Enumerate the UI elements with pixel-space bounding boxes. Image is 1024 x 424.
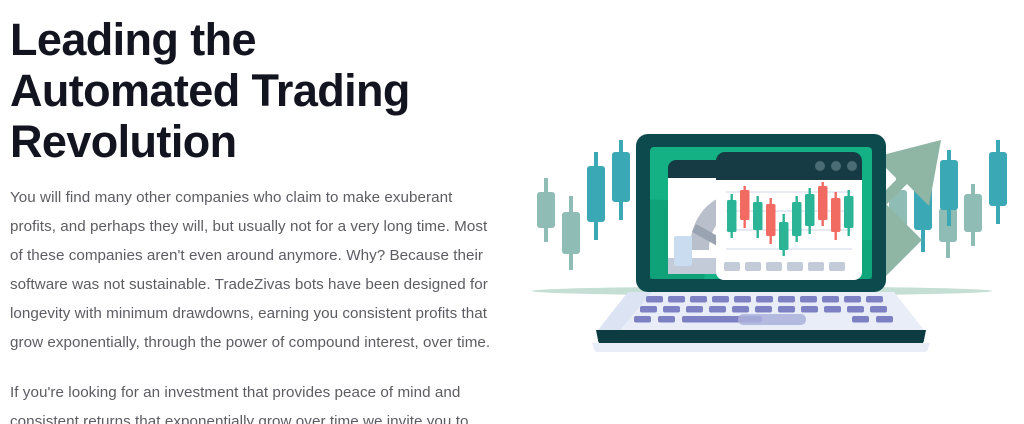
laptop-front-edge: [596, 330, 926, 345]
window-dot-3[interactable]: [847, 161, 857, 171]
headline-line-2: Automated Trading: [10, 65, 496, 116]
laptop-trackpad[interactable]: [738, 314, 806, 325]
candle-6: [792, 196, 802, 242]
window-dot-1[interactable]: [815, 161, 825, 171]
bg-candle-left-4: [612, 140, 630, 220]
hero-section: Leading the Automated Trading Revolution…: [0, 0, 1024, 424]
laptop-front-lip: [592, 343, 930, 352]
headline-line-3: Revolution: [10, 116, 496, 167]
hero-copy-column: Leading the Automated Trading Revolution…: [10, 14, 496, 424]
candle-8: [818, 182, 828, 226]
gauge-side-card: [674, 236, 692, 266]
bg-candle-left-3: [587, 152, 605, 240]
hero-paragraph-2: If you're looking for an investment that…: [10, 378, 496, 424]
bg-candle-left-2: [562, 196, 580, 270]
page-title: Leading the Automated Trading Revolution: [10, 14, 496, 167]
hero-illustration: [500, 0, 1024, 424]
window-dot-2[interactable]: [831, 161, 841, 171]
headline-line-1: Leading the: [10, 14, 496, 65]
bg-candle-right-6: [989, 140, 1007, 224]
candle-1: [727, 194, 737, 238]
laptop: [592, 134, 930, 352]
chart-app-window: [716, 152, 862, 280]
bg-candle-left-1: [537, 178, 555, 242]
bg-candle-right-4: [964, 184, 982, 246]
hero-paragraph-1: You will find many other companies who c…: [10, 183, 496, 357]
laptop-trading-illustration-svg: [500, 0, 1024, 424]
